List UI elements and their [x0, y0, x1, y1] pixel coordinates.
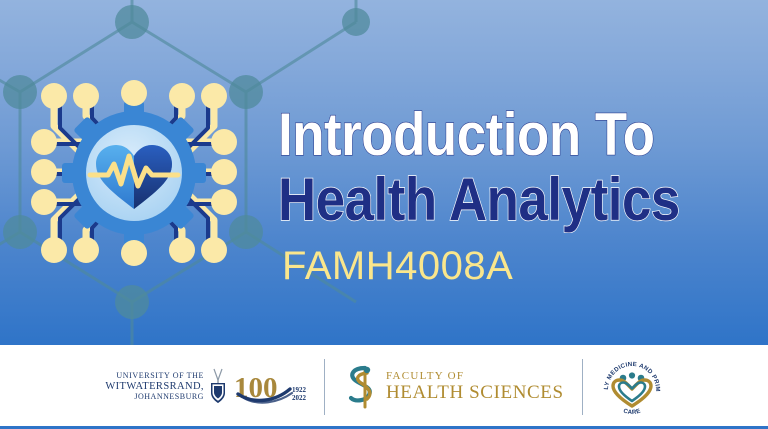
asclepius-rod-icon — [343, 363, 379, 411]
wits-university-logo: UNIVERSITY OF THE WITWATERSRAND, JOHANNE… — [105, 367, 306, 407]
faculty-wordmark: FACULTY OF HEALTH SCIENCES — [386, 371, 564, 402]
wits-centenary-100-icon: 100 1922 2022 — [232, 367, 306, 407]
wits-line-1: UNIVERSITY OF THE — [105, 372, 204, 381]
centenary-year-from: 1922 — [292, 386, 306, 394]
course-title-line-1: Introduction To — [278, 104, 699, 166]
faculty-of-health-sciences-logo: FACULTY OF HEALTH SCIENCES — [343, 363, 564, 411]
footer-divider-1 — [324, 359, 325, 415]
health-analytics-chip-logo — [22, 68, 246, 278]
faculty-line-2: HEALTH SCIENCES — [386, 383, 564, 403]
family-head-center — [629, 372, 635, 378]
wits-line-3: JOHANNESBURG — [105, 393, 204, 402]
banner-background: Introduction To Health Analytics FAMH400… — [0, 0, 768, 345]
family-medicine-primary-care-logo: FAMILY MEDICINE AND PRIMARY CARE — [601, 356, 663, 418]
course-title-line-2: Health Analytics — [278, 168, 699, 232]
centenary-year-to: 2022 — [292, 394, 306, 402]
fmpc-arc-text-bottom: CARE — [622, 407, 641, 416]
wits-shield-icon — [207, 367, 229, 407]
footer-logo-bar: UNIVERSITY OF THE WITWATERSRAND, JOHANNE… — [0, 345, 768, 429]
course-title-slide: Introduction To Health Analytics FAMH400… — [0, 0, 768, 429]
course-code: FAMH4008A — [282, 244, 756, 288]
svg-text:CARE: CARE — [622, 407, 641, 416]
footer-divider-2 — [582, 359, 583, 415]
title-block: Introduction To Health Analytics FAMH400… — [278, 104, 756, 288]
wits-wordmark: UNIVERSITY OF THE WITWATERSRAND, JOHANNE… — [105, 372, 204, 402]
